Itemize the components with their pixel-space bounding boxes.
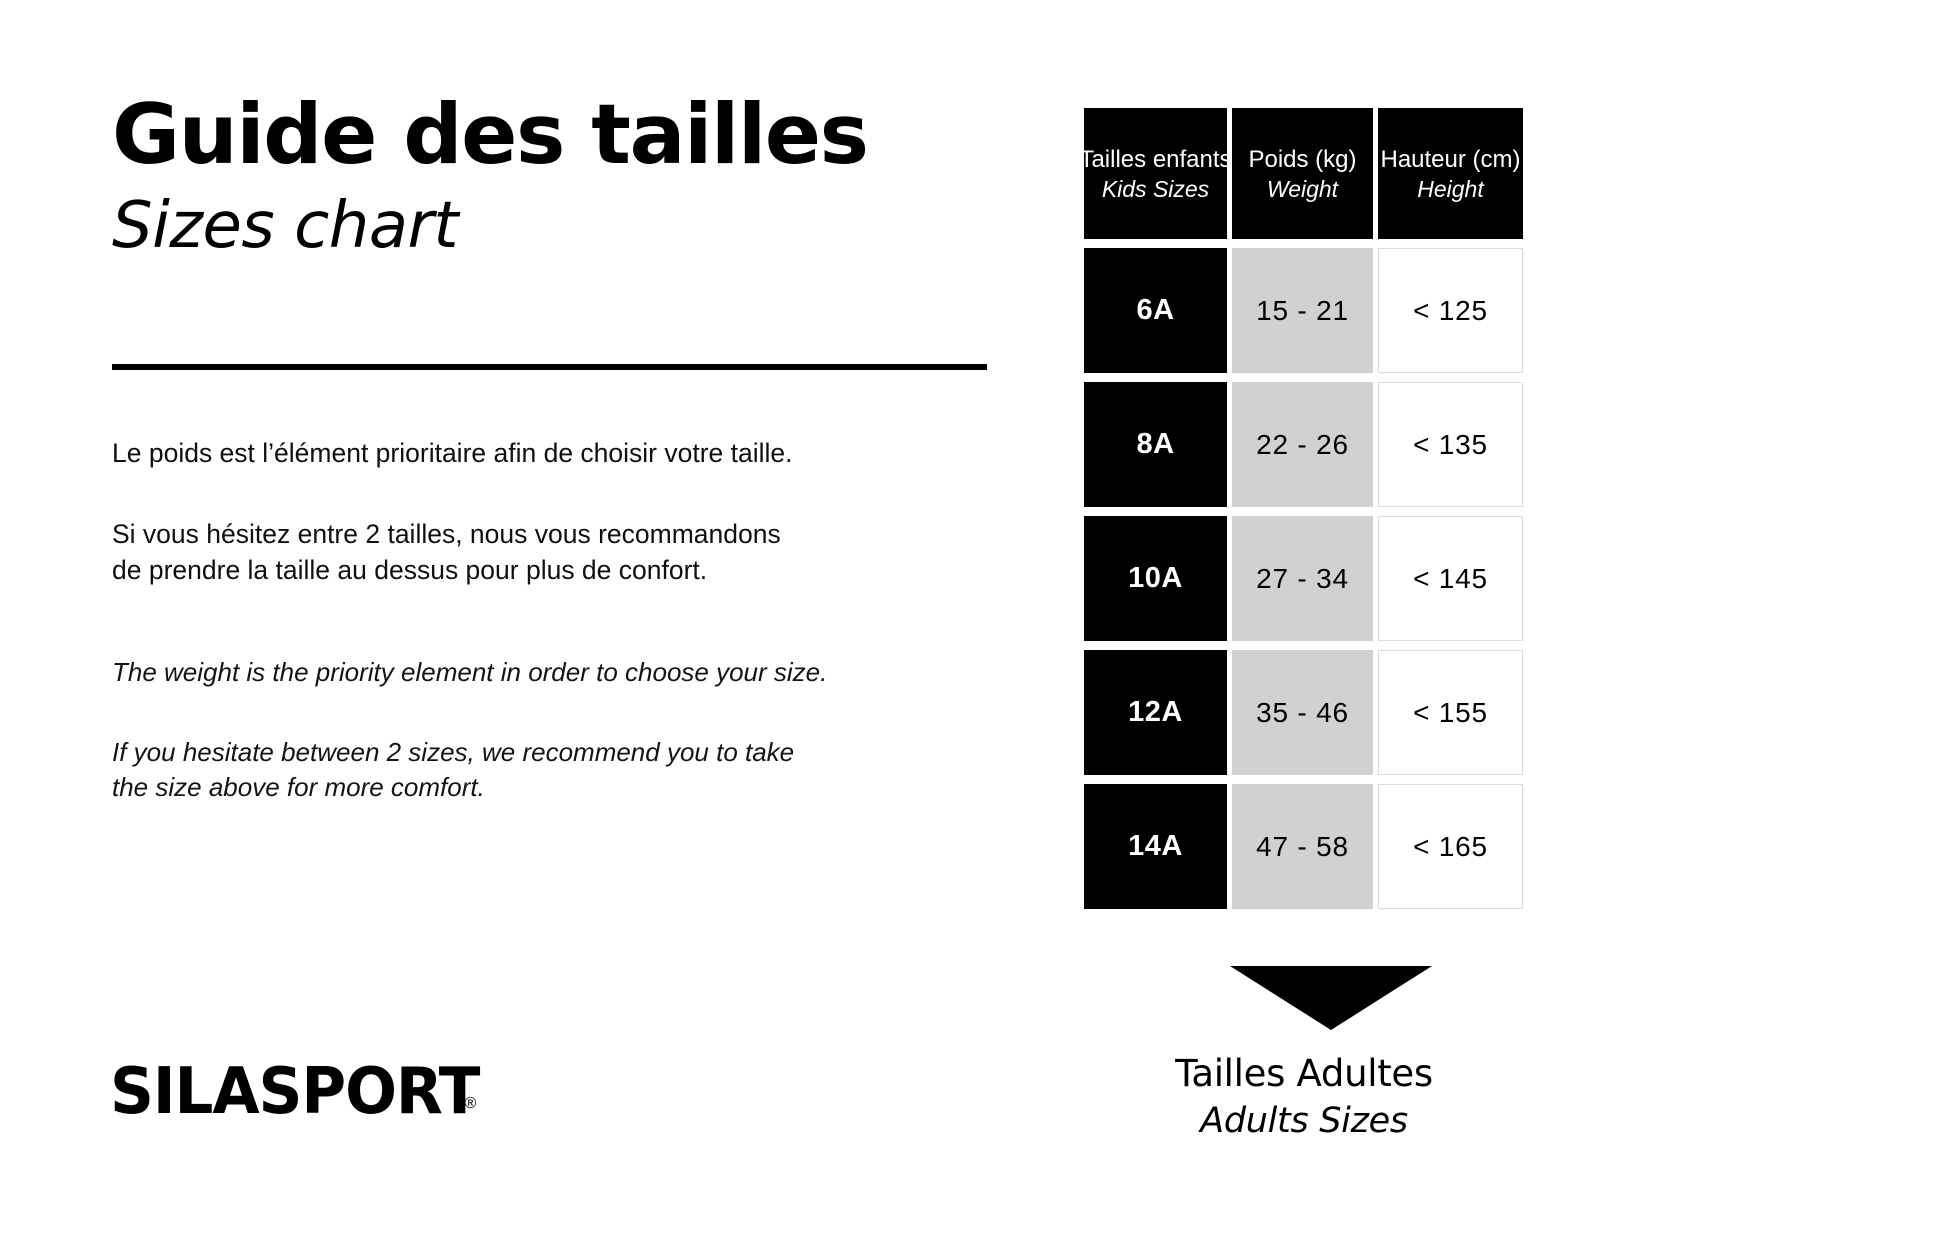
cell-height-value: < 145 [1413, 563, 1488, 595]
page-title: Guide des tailles [112, 96, 1012, 175]
text-spacer [112, 633, 992, 655]
cell-size-value: 6A [1136, 294, 1174, 327]
column-header-height: Hauteur (cm) Height [1378, 108, 1523, 239]
column-header-kids-sizes-en: Kids Sizes [1102, 174, 1209, 205]
cell-weight-value: 35 - 46 [1256, 697, 1349, 729]
cell-size: 14A [1084, 784, 1227, 909]
cell-height-value: < 125 [1413, 295, 1488, 327]
cell-height-value: < 155 [1413, 697, 1488, 729]
cell-size-value: 14A [1128, 830, 1183, 863]
cell-size-value: 12A [1128, 696, 1183, 729]
cell-weight-value: 27 - 34 [1256, 563, 1349, 595]
column-header-height-fr: Hauteur (cm) [1380, 146, 1520, 174]
column-header-height-en: Height [1417, 174, 1483, 205]
brand-logo-wordmark: SILASPORT [110, 1060, 479, 1124]
cell-height: < 165 [1378, 784, 1523, 909]
cell-height: < 145 [1378, 516, 1523, 641]
intro-fr-paragraph-2-line-2: de prendre la taille au dessus pour plus… [112, 555, 707, 585]
cell-weight: 22 - 26 [1232, 382, 1373, 507]
cell-height-value: < 165 [1413, 831, 1488, 863]
cell-weight-value: 22 - 26 [1256, 429, 1349, 461]
brand-logo: SILASPORT ® [110, 1060, 476, 1124]
column-header-weight: Poids (kg) Weight [1232, 108, 1373, 239]
cell-weight-value: 15 - 21 [1256, 295, 1349, 327]
cell-weight-value: 47 - 58 [1256, 831, 1349, 863]
intro-text-block: Le poids est l’élément prioritaire afin … [112, 435, 992, 850]
divider [112, 364, 987, 370]
cell-weight: 47 - 58 [1232, 784, 1373, 909]
adults-sizes-footer: Tailles Adultes Adults Sizes [1084, 1052, 1524, 1142]
arrow-down-icon [1230, 966, 1432, 1030]
column-header-kids-sizes: Tailles enfants Kids Sizes [1084, 108, 1227, 239]
column-header-kids-sizes-fr: Tailles enfants [1079, 146, 1231, 174]
intro-en-paragraph-2: If you hesitate between 2 sizes, we reco… [112, 735, 992, 807]
sizes-table: Tailles enfants Kids Sizes Poids (kg) We… [1084, 108, 1524, 909]
column-header-weight-fr: Poids (kg) [1248, 146, 1356, 174]
cell-weight: 15 - 21 [1232, 248, 1373, 373]
adults-sizes-label-en: Adults Sizes [1084, 1100, 1524, 1142]
table-row: 10A 27 - 34 < 145 [1084, 516, 1524, 641]
intro-fr-paragraph-2: Si vous hésitez entre 2 tailles, nous vo… [112, 516, 992, 589]
intro-en-paragraph-1: The weight is the priority element in or… [112, 655, 992, 691]
cell-size: 6A [1084, 248, 1227, 373]
table-row: 8A 22 - 26 < 135 [1084, 382, 1524, 507]
intro-en-paragraph-2-line-1: If you hesitate between 2 sizes, we reco… [112, 737, 794, 767]
table-row: 12A 35 - 46 < 155 [1084, 650, 1524, 775]
cell-height: < 135 [1378, 382, 1523, 507]
title-block: Guide des tailles Sizes chart [112, 96, 1012, 260]
cell-size-value: 10A [1128, 562, 1183, 595]
cell-weight: 27 - 34 [1232, 516, 1373, 641]
page-subtitle: Sizes chart [112, 193, 1012, 260]
cell-size: 8A [1084, 382, 1227, 507]
intro-fr-paragraph-2-line-1: Si vous hésitez entre 2 tailles, nous vo… [112, 519, 781, 549]
intro-fr-paragraph-1: Le poids est l’élément prioritaire afin … [112, 435, 992, 472]
cell-size-value: 8A [1136, 428, 1174, 461]
cell-height-value: < 135 [1413, 429, 1488, 461]
cell-height: < 125 [1378, 248, 1523, 373]
column-header-weight-en: Weight [1267, 174, 1338, 205]
cell-height: < 155 [1378, 650, 1523, 775]
cell-weight: 35 - 46 [1232, 650, 1373, 775]
table-row: 6A 15 - 21 < 125 [1084, 248, 1524, 373]
table-header-row: Tailles enfants Kids Sizes Poids (kg) We… [1084, 108, 1524, 239]
cell-size: 10A [1084, 516, 1227, 641]
sizes-chart-page: Guide des tailles Sizes chart Le poids e… [0, 0, 1946, 1251]
table-row: 14A 47 - 58 < 165 [1084, 784, 1524, 909]
cell-size: 12A [1084, 650, 1227, 775]
adults-sizes-label-fr: Tailles Adultes [1084, 1052, 1524, 1096]
intro-en-paragraph-2-line-2: the size above for more comfort. [112, 772, 485, 802]
